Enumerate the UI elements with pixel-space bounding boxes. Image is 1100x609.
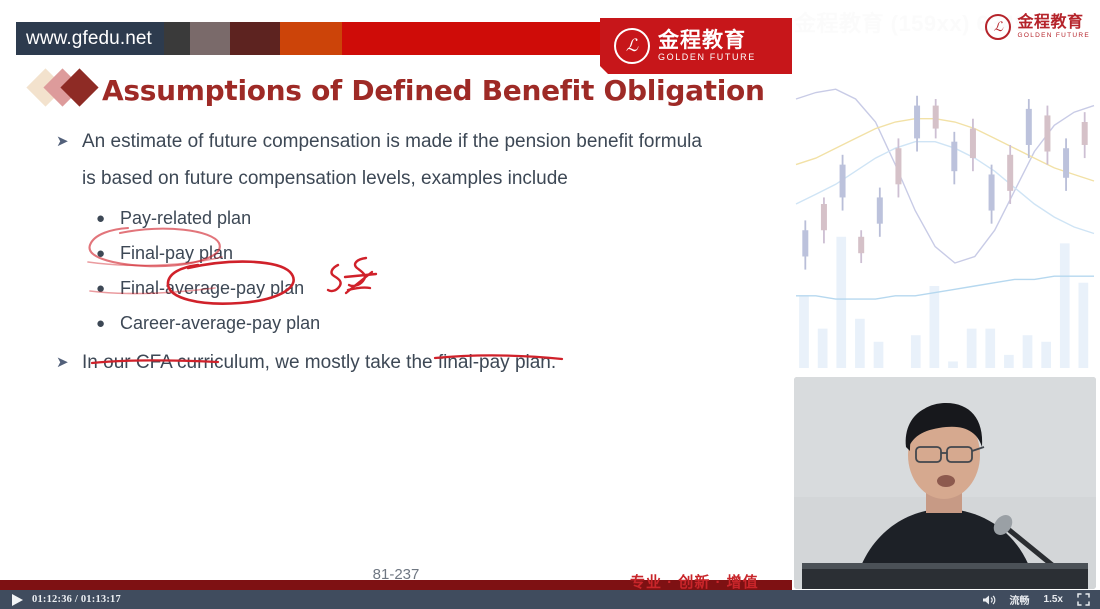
bullet-text: is based on future compensation levels, … [82,161,756,196]
header-color-block-3 [230,22,280,55]
slide-footer-bar: 专业 · 创新 · 增值 [0,580,792,590]
slide-title: Assumptions of Defined Benefit Obligatio… [102,74,765,107]
dot-bullet-icon: ● [96,236,120,271]
dot-bullet-icon: ● [96,271,120,306]
video-player-page: www.gfedu.net ℒ 金程教育 GOLDEN FUTURE Assum… [0,0,1100,609]
title-diamond-icon [32,70,98,110]
instructor-webcam-video[interactable] [794,377,1096,589]
slide-footer-slogan: 专业 · 创新 · 增值 [630,571,759,590]
quality-button[interactable]: 流畅 [1010,592,1030,607]
sub-bullet-pay-related: ● Pay-related plan [96,201,756,236]
sub-bullet-text: Final-average-pay plan [120,271,304,306]
slide-header-url: www.gfedu.net [16,22,164,55]
control-bar-left: 01:12:36 / 01:13:17 [0,594,121,606]
sub-bullet-final-pay: ● Final-pay plan [96,236,756,271]
background-stock-chart: 金程教育 (159xx) 6349 ℒ 金程教育 GOLDEN FUTURE [792,0,1100,372]
header-color-block-2 [190,22,230,55]
stock-chart-svg [792,0,1100,372]
play-icon[interactable] [12,594,23,606]
slide-body: ➤ An estimate of future compensation is … [56,124,756,382]
logo-text-cn: 金程教育 [658,30,756,52]
sub-bullet-text: Final-pay plan [120,236,233,271]
watermark-seal-icon: ℒ [985,14,1011,40]
bullet-spacer [56,161,82,196]
watermark-logo-cn: 金程教育 [1017,15,1090,32]
sub-bullet-text: Career-average-pay plan [120,306,320,341]
control-bar-right: 流畅 1.5x [982,592,1100,607]
slide-title-row: Assumptions of Defined Benefit Obligatio… [32,70,765,110]
bullet-text: In our CFA curriculum, we mostly take th… [82,345,756,380]
time-display: 01:12:36 / 01:13:17 [32,594,121,605]
logo-text-en: GOLDEN FUTURE [658,52,756,63]
bullet-level1-cfa: ➤ In our CFA curriculum, we mostly take … [56,345,756,380]
fullscreen-icon[interactable] [1077,593,1090,606]
bullet-level1-cont: is based on future compensation levels, … [56,161,756,196]
sub-bullet-career-average-pay: ● Career-average-pay plan [96,306,756,341]
bullet-text: An estimate of future compensation is ma… [82,124,756,159]
slide-content: www.gfedu.net ℒ 金程教育 GOLDEN FUTURE Assum… [0,0,792,590]
header-color-block-4 [280,22,342,55]
watermark-logo-en: GOLDEN FUTURE [1017,32,1090,40]
playback-speed-button[interactable]: 1.5x [1044,594,1063,605]
player-control-bar: 01:12:36 / 01:13:17 流畅 1.5x [0,590,1100,609]
header-color-block-1 [164,22,190,55]
sub-bullet-text: Pay-related plan [120,201,251,236]
sub-bullet-final-average-pay: ● Final-average-pay plan [96,271,756,306]
logo-seal-icon: ℒ [614,28,650,64]
dot-bullet-icon: ● [96,201,120,236]
gfedu-logo-banner: ℒ 金程教育 GOLDEN FUTURE [600,18,792,74]
watermark-logo: ℒ 金程教育 GOLDEN FUTURE [985,14,1090,40]
dot-bullet-icon: ● [96,306,120,341]
arrow-bullet-icon: ➤ [56,345,82,380]
volume-icon[interactable] [982,594,996,606]
bullet-level1: ➤ An estimate of future compensation is … [56,124,756,159]
arrow-bullet-icon: ➤ [56,124,82,159]
